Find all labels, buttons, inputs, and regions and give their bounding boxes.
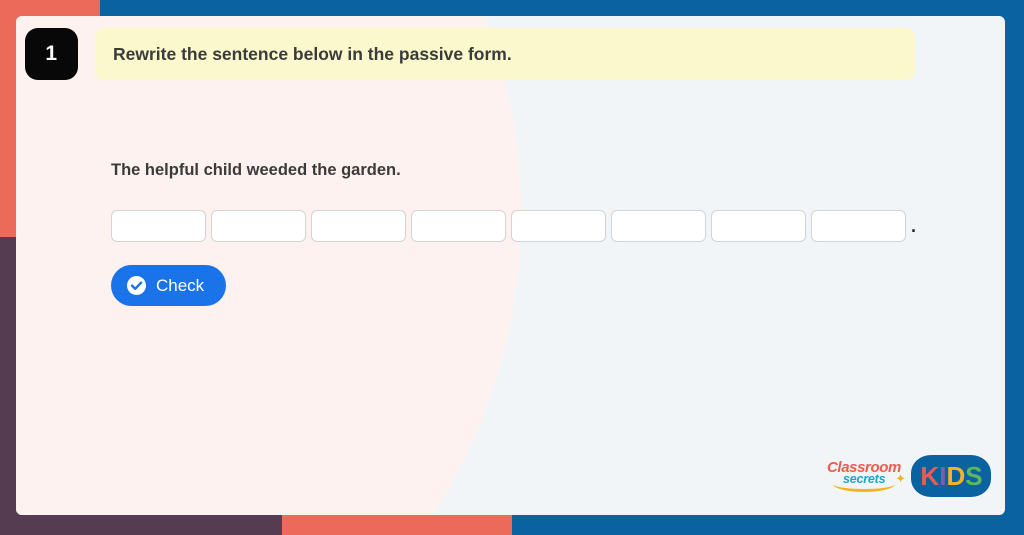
answer-input-2[interactable]	[211, 210, 306, 242]
brand-logo: Classroom secrets ✦ K I D S	[827, 455, 991, 497]
answer-input-3[interactable]	[311, 210, 406, 242]
question-number-badge: 1	[25, 28, 78, 80]
kids-letter-s: S	[965, 461, 981, 492]
sentence-end-period: .	[911, 210, 916, 242]
question-card: 1 Rewrite the sentence below in the pass…	[16, 16, 1005, 515]
kids-letter-k: K	[920, 461, 938, 492]
answer-input-7[interactable]	[711, 210, 806, 242]
source-sentence: The helpful child weeded the garden.	[111, 161, 401, 180]
answer-input-5[interactable]	[511, 210, 606, 242]
answer-input-1[interactable]	[111, 210, 206, 242]
brand-line2: secrets	[843, 472, 885, 486]
kids-letter-i: I	[939, 461, 945, 492]
kids-letter-d: D	[946, 461, 964, 492]
instruction-banner: Rewrite the sentence below in the passiv…	[95, 28, 915, 80]
check-button[interactable]: Check	[111, 265, 226, 306]
check-circle-icon	[127, 276, 146, 295]
answer-input-row: .	[111, 210, 916, 242]
brand-star-icon: ✦	[895, 472, 906, 485]
check-button-label: Check	[156, 276, 204, 296]
kids-logo: K I D S	[911, 455, 991, 497]
classroom-secrets-wordmark: Classroom secrets ✦	[827, 458, 905, 494]
instruction-text: Rewrite the sentence below in the passiv…	[113, 44, 512, 65]
worksheet-page: 1 Rewrite the sentence below in the pass…	[0, 0, 1024, 535]
answer-input-8[interactable]	[811, 210, 906, 242]
answer-input-6[interactable]	[611, 210, 706, 242]
answer-input-4[interactable]	[411, 210, 506, 242]
